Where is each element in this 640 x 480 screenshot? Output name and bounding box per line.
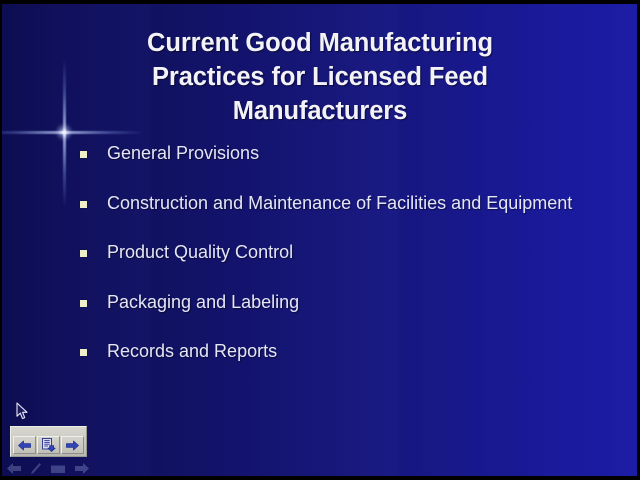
star-core-glow [55, 123, 73, 141]
square-bullet-icon [80, 151, 87, 158]
list-item-label: Product Quality Control [107, 242, 580, 264]
square-bullet-icon [80, 201, 87, 208]
list-item: Packaging and Labeling [80, 292, 580, 314]
rectangle-icon [50, 462, 66, 476]
back-arrow-icon [6, 462, 22, 476]
list-item: Construction and Maintenance of Faciliti… [80, 193, 580, 215]
presentation-slideshow-view: Current Good Manufacturing Practices for… [0, 0, 640, 480]
pen-icon [30, 462, 42, 476]
list-item-label: General Provisions [107, 143, 580, 165]
slide-canvas: Current Good Manufacturing Practices for… [2, 4, 637, 476]
document-menu-icon [41, 438, 56, 452]
left-arrow-icon [17, 440, 32, 451]
list-item: General Provisions [80, 143, 580, 165]
star-vertical-ray [63, 58, 66, 208]
next-slide-button[interactable] [61, 436, 84, 454]
slide-bullet-list: General Provisions Construction and Main… [80, 143, 580, 391]
square-bullet-icon [80, 300, 87, 307]
slideshow-menu-button[interactable] [37, 436, 60, 454]
list-item-label: Packaging and Labeling [107, 292, 580, 314]
previous-slide-button[interactable] [13, 436, 36, 454]
right-arrow-icon [65, 440, 80, 451]
list-item-label: Records and Reports [107, 341, 580, 363]
star-horizontal-ray [2, 131, 144, 134]
square-bullet-icon [80, 250, 87, 257]
list-item: Records and Reports [80, 341, 580, 363]
list-item: Product Quality Control [80, 242, 580, 264]
list-item-label: Construction and Maintenance of Faciliti… [107, 193, 580, 215]
square-bullet-icon [80, 349, 87, 356]
slide-title: Current Good Manufacturing Practices for… [90, 26, 550, 128]
forward-arrow-icon [74, 462, 90, 476]
status-icon-strip [6, 463, 116, 476]
slideshow-nav-toolbar[interactable] [10, 426, 87, 457]
